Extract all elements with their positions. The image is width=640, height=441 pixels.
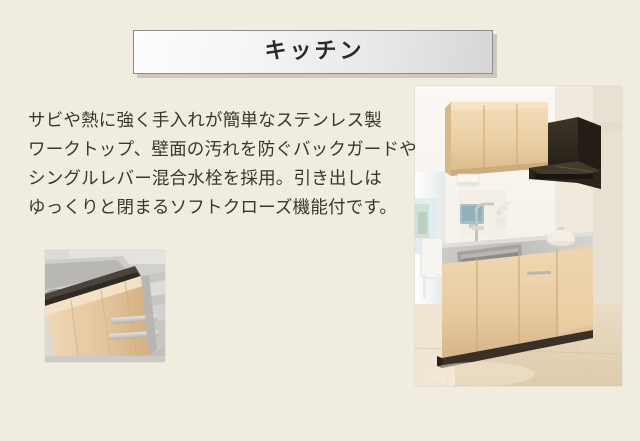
page-title: キッチン [261,41,364,63]
description-line: サビや熱に強く手入れが簡単なステンレス製 [28,106,408,135]
section-title-banner: キッチン [133,30,493,74]
kitchen-main-photo [415,86,622,386]
description-line: ワークトップ、壁面の汚れを防ぐバックガードや [28,135,408,164]
description-line: ゆっくりと閉まるソフトクローズ機能付です。 [28,193,408,222]
description-text: サビや熱に強く手入れが簡単なステンレス製 ワークトップ、壁面の汚れを防ぐバックガ… [28,106,408,222]
slide-root: キッチン サビや熱に強く手入れが簡単なステンレス製 ワークトップ、壁面の汚れを防… [0,0,640,441]
description-line: シングルレバー混合水栓を採用。引き出しは [28,164,408,193]
kitchen-drawer-photo [45,250,165,362]
